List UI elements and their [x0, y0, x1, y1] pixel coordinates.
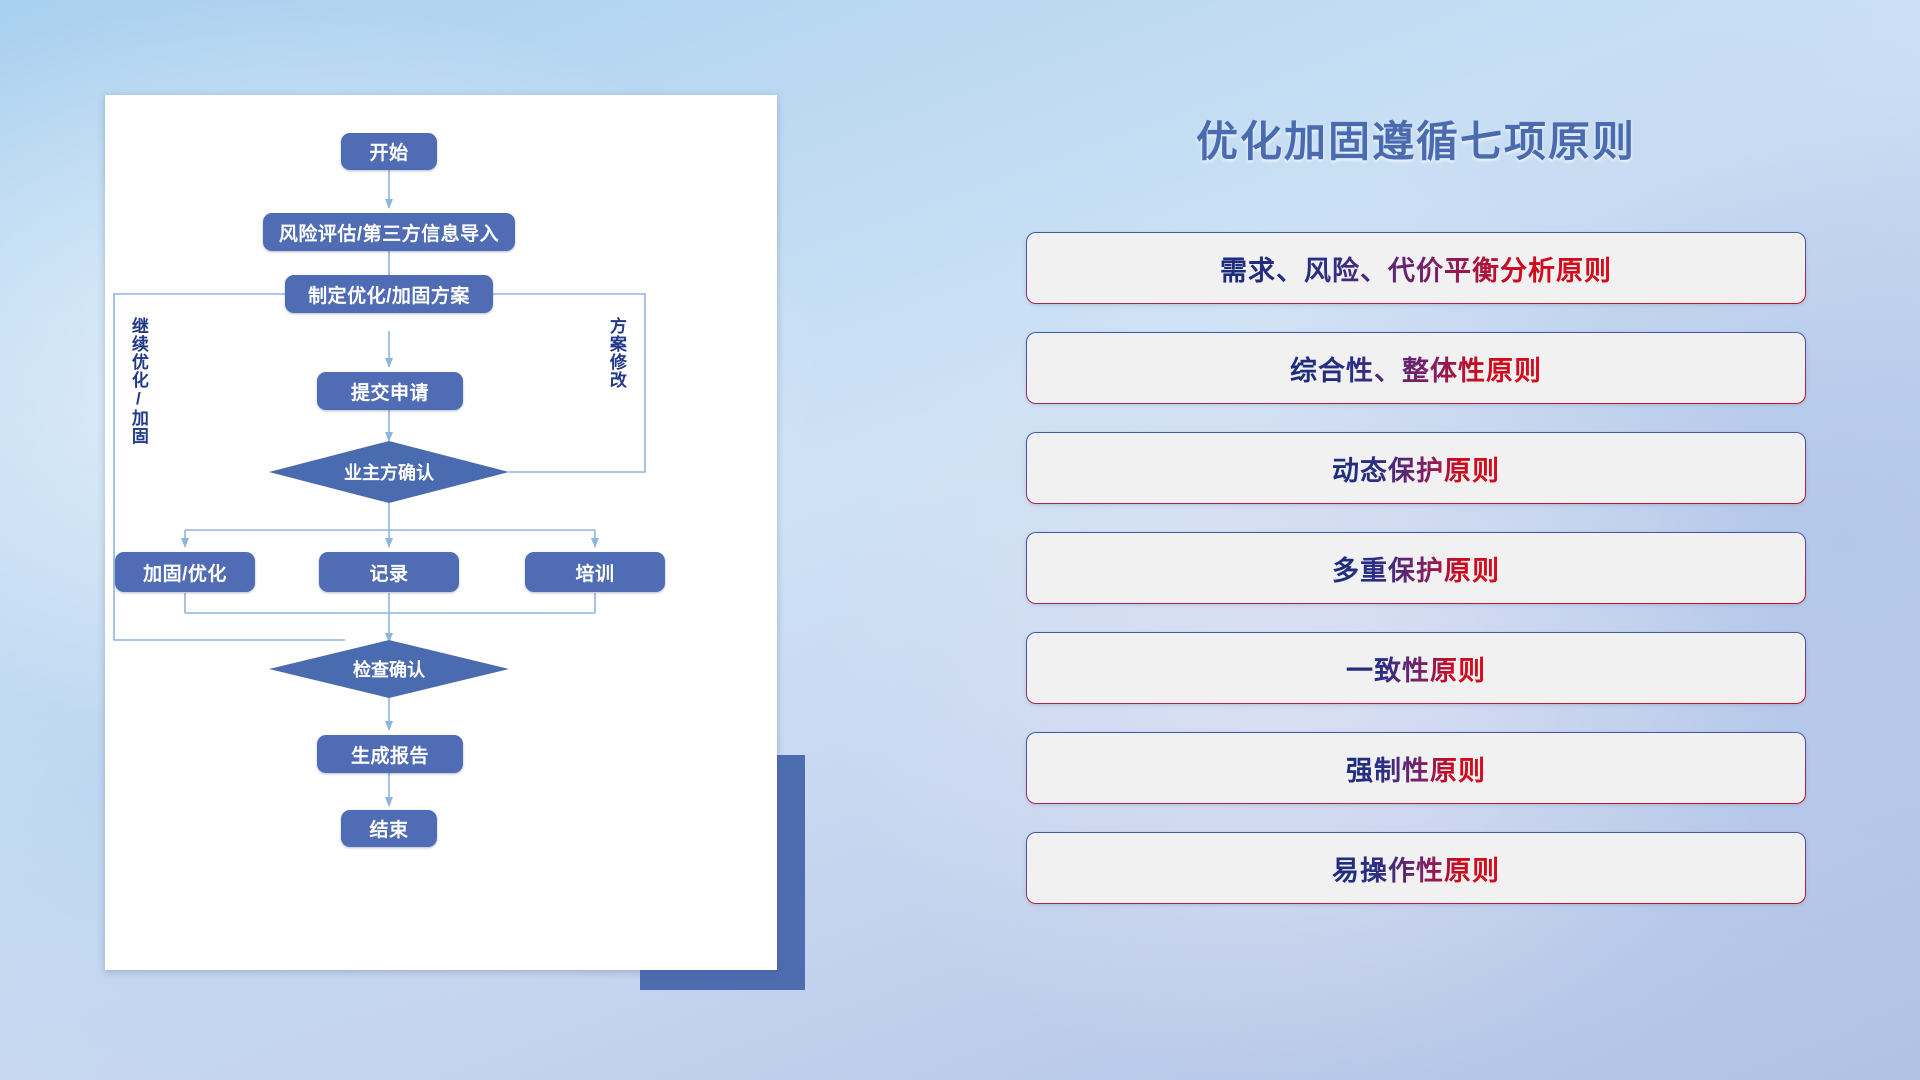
principle-card-label: 综合性、整体性原则	[1290, 349, 1542, 388]
edge-label-text: 继续优化/加固	[129, 317, 148, 445]
flow-node-start[interactable]: 开始	[341, 133, 437, 170]
flow-edge-label-plan-revision: 方案修改	[607, 317, 625, 427]
flow-edge-label-continue-optimize: 继续优化/加固	[129, 317, 147, 467]
principle-card[interactable]: 易操作性原则	[1026, 832, 1806, 904]
flow-node-reinforce-optimize[interactable]: 加固/优化	[115, 552, 255, 592]
flow-node-label: 加固/优化	[143, 559, 227, 586]
flow-node-label: 提交申请	[351, 378, 429, 405]
flow-node-training[interactable]: 培训	[525, 552, 665, 592]
principle-card-label: 强制性原则	[1346, 749, 1486, 788]
slide-root: 开始 风险评估/第三方信息导入 制定优化/加固方案 提交申请 业主方确认 加固/…	[0, 0, 1920, 1080]
principle-card[interactable]: 多重保护原则	[1026, 532, 1806, 604]
principle-card[interactable]: 需求、风险、代价平衡分析原则	[1026, 232, 1806, 304]
flow-node-label: 风险评估/第三方信息导入	[279, 219, 499, 246]
edge-label-text: 方案修改	[607, 317, 626, 389]
flow-decision-label: 检查确认	[353, 656, 425, 682]
flow-node-plan-formulation[interactable]: 制定优化/加固方案	[285, 275, 493, 313]
principle-card[interactable]: 一致性原则	[1026, 632, 1806, 704]
principles-title: 优化加固遵循七项原则	[1026, 108, 1806, 169]
flow-node-label: 生成报告	[351, 741, 429, 768]
flow-node-label: 开始	[369, 138, 408, 165]
principle-card-label: 一致性原则	[1346, 649, 1486, 688]
principles-list: 需求、风险、代价平衡分析原则 综合性、整体性原则 动态保护原则 多重保护原则 一…	[1026, 232, 1806, 932]
flow-node-generate-report[interactable]: 生成报告	[317, 735, 463, 773]
principle-card[interactable]: 综合性、整体性原则	[1026, 332, 1806, 404]
flow-decision-check-confirm[interactable]: 检查确认	[269, 640, 509, 698]
principle-card[interactable]: 强制性原则	[1026, 732, 1806, 804]
principle-card-label: 动态保护原则	[1332, 449, 1500, 488]
principle-card-label: 易操作性原则	[1332, 849, 1500, 888]
flow-decision-owner-confirm[interactable]: 业主方确认	[269, 441, 509, 503]
flow-node-end[interactable]: 结束	[341, 810, 437, 847]
flow-node-label: 记录	[369, 559, 408, 586]
flow-decision-label: 业主方确认	[344, 459, 434, 485]
flow-node-submit-application[interactable]: 提交申请	[317, 372, 463, 410]
flow-node-record[interactable]: 记录	[319, 552, 459, 592]
flowchart-panel: 开始 风险评估/第三方信息导入 制定优化/加固方案 提交申请 业主方确认 加固/…	[105, 95, 777, 970]
principle-card-label: 多重保护原则	[1332, 549, 1500, 588]
flow-node-label: 结束	[369, 815, 408, 842]
flow-node-risk-assessment[interactable]: 风险评估/第三方信息导入	[263, 213, 515, 251]
principle-card-label: 需求、风险、代价平衡分析原则	[1220, 249, 1612, 288]
principle-card[interactable]: 动态保护原则	[1026, 432, 1806, 504]
flow-node-label: 培训	[575, 559, 614, 586]
flow-node-label: 制定优化/加固方案	[308, 281, 470, 308]
